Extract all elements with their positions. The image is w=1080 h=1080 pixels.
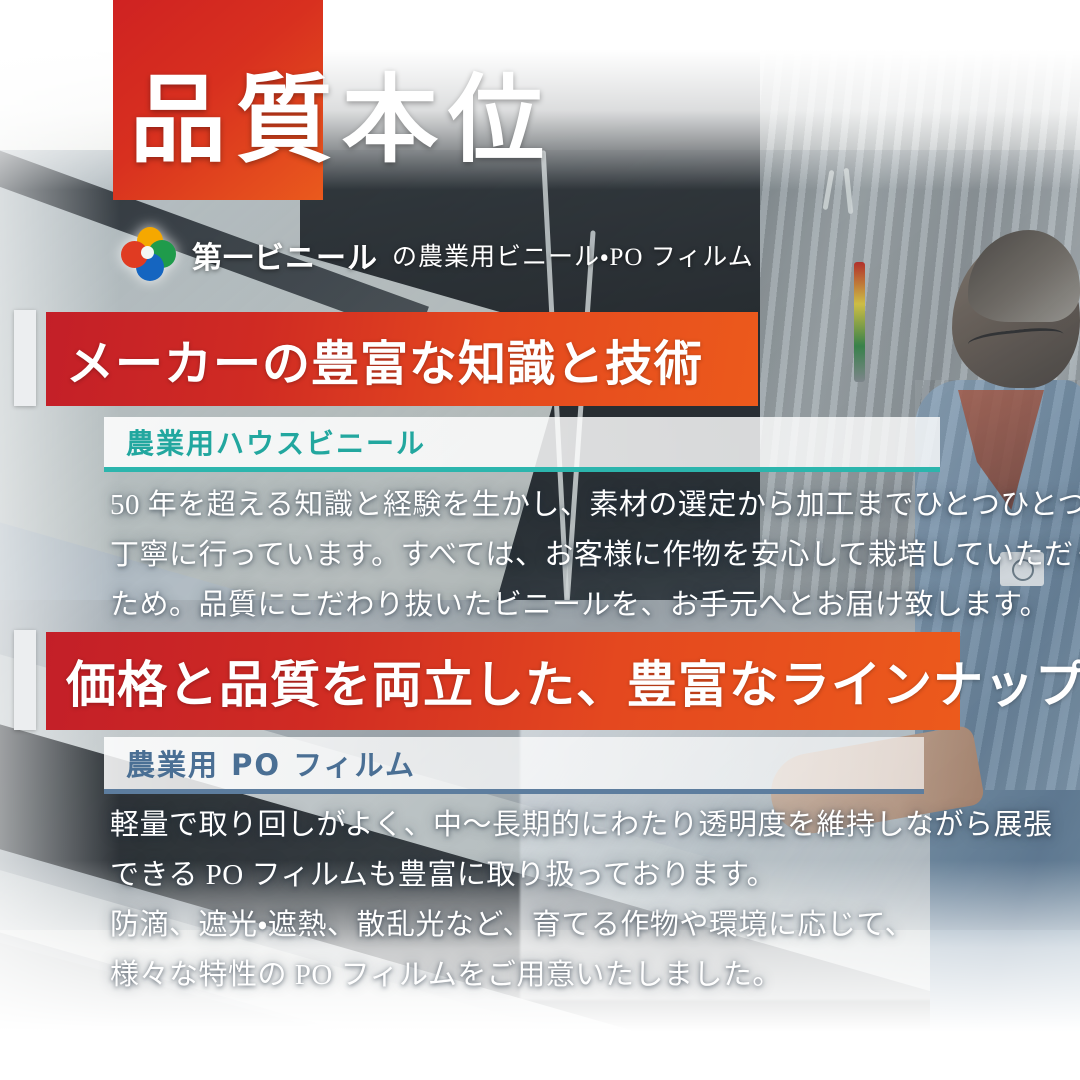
section-subheading-2: 農業用 PO フィルム [104, 737, 924, 794]
pinwheel-logo-icon [120, 226, 178, 284]
section-body-2: 軽量で取り回しがよく、中〜長期的にわたり透明度を維持しながら展張 できる PO … [110, 800, 1053, 1000]
section-subheading-1-label: 農業用ハウスビニール [104, 422, 426, 462]
brand-tagline: の農業用ビニール・PO フィルム [392, 237, 754, 273]
body-line: 丁寧に行っています。すべては、お客様に作物を安心して栽培していただく [110, 530, 1080, 580]
body-line: 軽量で取り回しがよく、中〜長期的にわたり透明度を維持しながら展張 [110, 800, 1053, 850]
section-banner-2: 価格と品質を両立した、豊富なラインナップ [46, 632, 960, 730]
brand-name: 第一ビニール [192, 233, 378, 277]
section-marker-1 [14, 310, 36, 406]
section-banner-1-label: メーカーの豊富な知識と技術 [46, 324, 703, 394]
body-line: 50 年を超える知識と経験を生かし、素材の選定から加工までひとつひとつ [110, 480, 1080, 530]
body-line: 様々な特性の PO フィルムをご用意いたしました。 [110, 950, 1053, 1000]
section-banner-2-label: 価格と品質を両立した、豊富なラインナップ [46, 645, 1080, 717]
brand-row: 第一ビニール の農業用ビニール・PO フィルム [120, 226, 754, 284]
section-body-1: 50 年を超える知識と経験を生かし、素材の選定から加工までひとつひとつ 丁寧に行… [110, 480, 1080, 630]
promo-banner-page: 品質本位 第一ビニール の農業用ビニール・PO フィルム メーカーの豊富な知識と… [0, 0, 1080, 1080]
section-subheading-1: 農業用ハウスビニール [104, 417, 940, 472]
section-subheading-2-label: 農業用 PO フィルム [104, 742, 416, 784]
body-line: 防滴、遮光・遮熱、散乱光など、育てる作物や環境に応じて、 [110, 900, 1053, 950]
page-title: 品質本位 [130, 72, 554, 168]
section-banner-1: メーカーの豊富な知識と技術 [46, 312, 758, 406]
section-marker-2 [14, 630, 36, 730]
body-line: ため。品質にこだわり抜いたビニールを、お手元へとお届け致します。 [110, 580, 1080, 630]
body-line: できる PO フィルムも豊富に取り扱っております。 [110, 850, 1053, 900]
logo-center [141, 246, 154, 259]
